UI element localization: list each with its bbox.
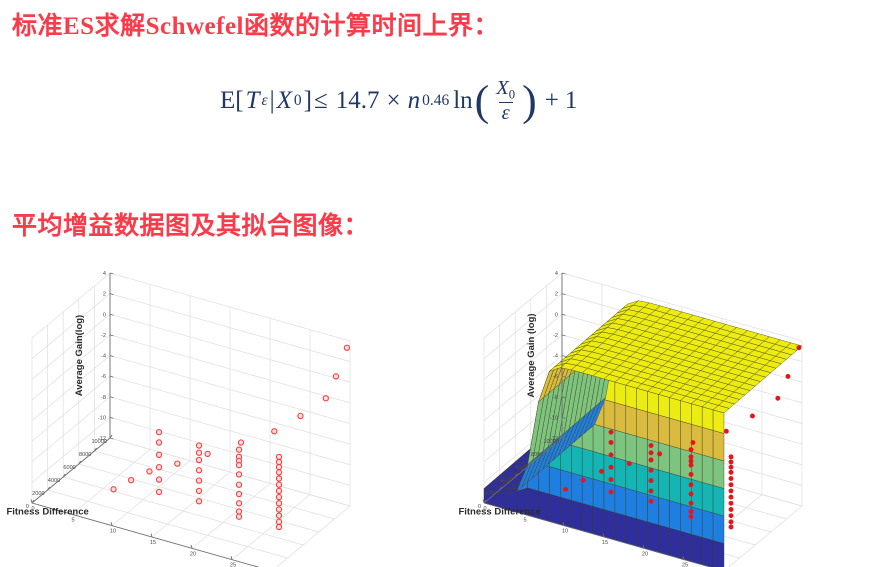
surface-overlay-point bbox=[729, 465, 733, 469]
scatter-point bbox=[236, 514, 241, 519]
surface-overlay-point bbox=[729, 501, 733, 505]
scatter-point bbox=[276, 482, 281, 487]
surface-face bbox=[593, 506, 604, 537]
surface-face bbox=[713, 458, 724, 489]
surface-overlay-point bbox=[786, 374, 790, 378]
surface-face bbox=[680, 401, 691, 425]
scatter-point bbox=[156, 440, 161, 445]
xtick-label: 8000 bbox=[79, 452, 91, 458]
surface-face bbox=[549, 494, 560, 525]
surface-face bbox=[637, 464, 648, 495]
ytick-label: 15 bbox=[150, 540, 156, 546]
surface-face bbox=[582, 448, 593, 479]
surface-overlay-point bbox=[599, 469, 603, 473]
formula-leq: ≤ bbox=[314, 87, 328, 115]
ytick-label: 25 bbox=[230, 563, 236, 567]
surface-face bbox=[582, 503, 593, 534]
surface-face bbox=[604, 400, 615, 431]
surface-face bbox=[560, 497, 571, 528]
surface-overlay-point bbox=[609, 430, 613, 434]
ytick-label: 10 bbox=[562, 529, 568, 535]
ztick-label: -8 bbox=[553, 395, 558, 401]
surface-face bbox=[659, 394, 670, 418]
surface-overlay-point bbox=[649, 443, 653, 447]
surface-overlay-point bbox=[729, 483, 733, 487]
formula-bracket-close: ] bbox=[304, 87, 312, 115]
ytick-label: 10 bbox=[110, 529, 116, 535]
scatter-point bbox=[175, 461, 180, 466]
formula-X: X bbox=[277, 87, 292, 115]
xtick-label: 8000 bbox=[531, 452, 543, 458]
scatter-point bbox=[196, 488, 201, 493]
scatter-axes bbox=[31, 273, 272, 567]
scatter-point bbox=[276, 488, 281, 493]
surface-face bbox=[691, 534, 702, 565]
scatter-zaxis-label: Average Gain(log) bbox=[74, 315, 85, 396]
surface-overlay-point bbox=[729, 460, 733, 464]
scatter-point bbox=[236, 472, 241, 477]
formula-T-subscript: ε bbox=[262, 92, 268, 110]
ytick-label: 5 bbox=[71, 517, 74, 523]
surface-face bbox=[637, 491, 648, 522]
formula-given-bar: | bbox=[270, 87, 275, 115]
scatter-point bbox=[205, 451, 210, 456]
surface-face bbox=[637, 436, 648, 467]
surface-overlay-point bbox=[658, 452, 662, 456]
ztick-label: 4 bbox=[555, 271, 558, 277]
scatter-point bbox=[236, 463, 241, 468]
formula-X-subscript: 0 bbox=[294, 92, 302, 110]
ztick-label: -4 bbox=[553, 354, 558, 360]
surface-face bbox=[659, 497, 670, 528]
scatter-point bbox=[147, 469, 152, 474]
ztick-label: -6 bbox=[553, 374, 558, 380]
formula-paren-open: ( bbox=[475, 88, 490, 115]
formula-expected-time: E[ T ε | X 0 ] ≤ 14.7 × n 0.46 ln ( X0 ε… bbox=[220, 78, 577, 124]
scatter-point bbox=[276, 454, 281, 459]
ztick-label: 4 bbox=[103, 271, 106, 277]
surface-face bbox=[669, 528, 680, 559]
scatter-point bbox=[276, 465, 281, 470]
surface-face bbox=[702, 427, 713, 458]
scatter-point bbox=[196, 468, 201, 473]
scatter-point bbox=[276, 513, 281, 518]
surface-overlay-point bbox=[609, 477, 613, 481]
scatter-point bbox=[276, 459, 281, 464]
surface-face bbox=[680, 421, 691, 452]
xtick-label: 2000 bbox=[484, 491, 496, 497]
surface-face bbox=[659, 525, 670, 556]
scatter-point bbox=[236, 447, 241, 452]
surface-xaxis-label: Fitness Difference bbox=[458, 506, 540, 517]
surface-overlay-point bbox=[609, 440, 613, 444]
surface-overlay-point bbox=[776, 396, 780, 400]
surface-overlay-point bbox=[609, 490, 613, 494]
ytick-label: 25 bbox=[682, 563, 688, 567]
surface-face bbox=[659, 470, 670, 501]
formula-n-exponent: 0.46 bbox=[422, 92, 449, 110]
surface-overlay-point bbox=[649, 499, 653, 503]
surface-overlay-point bbox=[649, 458, 653, 462]
surface-overlay-point bbox=[649, 468, 653, 472]
surface-face bbox=[615, 458, 626, 489]
xtick-label: 2000 bbox=[32, 491, 44, 497]
scatter-point bbox=[238, 440, 243, 445]
surface-face bbox=[713, 485, 724, 516]
xtick-label: 4000 bbox=[48, 478, 60, 484]
scatter-point bbox=[236, 501, 241, 506]
scatter-point bbox=[129, 478, 134, 483]
surface-overlay-point bbox=[689, 483, 693, 487]
surface-overlay-point bbox=[689, 501, 693, 505]
scatter-point bbox=[196, 478, 201, 483]
scatter-point bbox=[276, 519, 281, 524]
formula-times: × bbox=[386, 87, 400, 115]
ztick-label: -8 bbox=[101, 395, 106, 401]
surface-face bbox=[626, 385, 637, 409]
scatter-plot-svg[interactable]: 420-2-4-6-8-10-1210000800060004000200000… bbox=[0, 250, 445, 567]
surface-face bbox=[560, 470, 571, 501]
surface-face bbox=[637, 519, 648, 550]
scatter-point bbox=[196, 450, 201, 455]
surface-face bbox=[593, 479, 604, 510]
formula-n: n bbox=[408, 87, 421, 115]
surface-face bbox=[571, 500, 582, 531]
surface-face bbox=[648, 522, 659, 553]
ztick-label: -2 bbox=[553, 333, 558, 339]
surface-face bbox=[669, 397, 680, 421]
formula-plus: + bbox=[545, 87, 559, 115]
scatter-point bbox=[298, 413, 303, 418]
scatter-point bbox=[196, 443, 201, 448]
ztick-label: 0 bbox=[103, 312, 106, 318]
formula-T: T bbox=[246, 87, 260, 115]
surface-face bbox=[713, 410, 724, 434]
page-title-upper-bound: 标准ES求解Schwefel函数的计算时间上界： bbox=[12, 6, 499, 42]
surface-face bbox=[637, 409, 648, 440]
surface-face bbox=[615, 430, 626, 461]
surface-face bbox=[713, 540, 724, 567]
scatter-point bbox=[196, 457, 201, 462]
ztick-label: 2 bbox=[555, 292, 558, 298]
scatter-point bbox=[276, 494, 281, 499]
surface-overlay-point bbox=[724, 429, 728, 433]
surface-face bbox=[702, 537, 713, 567]
formula-expectation-open: E[ bbox=[220, 87, 244, 115]
surface-face bbox=[604, 482, 615, 513]
scatter-point bbox=[344, 345, 349, 350]
formula-fraction-numerator: X0 bbox=[493, 78, 518, 102]
scatter-plot-panel[interactable]: 420-2-4-6-8-10-1210000800060004000200000… bbox=[0, 250, 445, 567]
surface-face bbox=[637, 388, 648, 412]
xtick-label: 4000 bbox=[500, 478, 512, 484]
surface-face bbox=[669, 473, 680, 504]
surface-overlay-point bbox=[750, 414, 754, 418]
ztick-label: 2 bbox=[103, 292, 106, 298]
scatter-point bbox=[156, 477, 161, 482]
surface-face bbox=[648, 391, 659, 415]
surface-face bbox=[669, 418, 680, 449]
surface-face bbox=[702, 455, 713, 486]
surface-face bbox=[593, 424, 604, 455]
scatter-point bbox=[156, 430, 161, 435]
scatter-point bbox=[156, 465, 161, 470]
formula-fraction-denominator: ε bbox=[499, 102, 513, 125]
slide-canvas: 标准ES求解Schwefel函数的计算时间上界： E[ T ε | X 0 ] … bbox=[0, 0, 895, 567]
scatter-point bbox=[196, 499, 201, 504]
surface-overlay-point bbox=[729, 507, 733, 511]
ztick-label: -4 bbox=[101, 354, 106, 360]
surface-face bbox=[626, 488, 637, 519]
surface-overlay-point bbox=[689, 515, 693, 519]
surface-face bbox=[571, 445, 582, 476]
surface-face bbox=[680, 531, 691, 562]
surface-overlay-point bbox=[563, 487, 567, 491]
ytick-label: 20 bbox=[190, 551, 196, 557]
surface-overlay-point bbox=[729, 520, 733, 524]
surface-face bbox=[626, 516, 637, 547]
scatter-point bbox=[276, 507, 281, 512]
surface-face bbox=[648, 412, 659, 443]
surface-overlay-point bbox=[689, 492, 693, 496]
xtick-label: 10000 bbox=[91, 439, 107, 445]
surface-overlay-point bbox=[689, 463, 693, 467]
surface-overlay-point bbox=[581, 478, 585, 482]
surface-overlay-point bbox=[609, 465, 613, 469]
surface-face bbox=[615, 513, 626, 544]
ztick-label: -2 bbox=[101, 333, 106, 339]
surface-face bbox=[691, 404, 702, 428]
surface-face bbox=[626, 461, 637, 492]
surface-face bbox=[626, 433, 637, 464]
surface-face bbox=[648, 494, 659, 525]
formula-ln: ln bbox=[453, 87, 472, 115]
surface-overlay-point bbox=[729, 525, 733, 529]
formula-one: 1 bbox=[565, 87, 578, 115]
scatter-point bbox=[111, 487, 116, 492]
scatter-point bbox=[236, 491, 241, 496]
page-title-average-gain: 平均增益数据图及其拟合图像： bbox=[12, 206, 369, 242]
surface-overlay-point bbox=[689, 448, 693, 452]
surface-plot-svg[interactable]: 420-2-4-6-8-10-1210000800060004000200000… bbox=[448, 250, 895, 567]
scatter-xaxis-label: Fitness Difference bbox=[6, 506, 88, 517]
xtick-label: 6000 bbox=[515, 465, 527, 471]
surface-face bbox=[593, 451, 604, 482]
ztick-label: 0 bbox=[555, 312, 558, 318]
surface-face bbox=[615, 485, 626, 516]
xtick-label: 6000 bbox=[63, 465, 75, 471]
scatter-point bbox=[276, 470, 281, 475]
surface-overlay-point bbox=[609, 453, 613, 457]
ztick-label: -10 bbox=[550, 415, 558, 421]
ztick-label: -6 bbox=[101, 374, 106, 380]
surface-face bbox=[702, 482, 713, 513]
surface-overlay-point bbox=[729, 476, 733, 480]
surface-face bbox=[713, 513, 724, 544]
surface-overlay-point bbox=[689, 472, 693, 476]
surface-face bbox=[615, 382, 626, 406]
surface-zaxis-label: Average Gain (log) bbox=[526, 313, 537, 397]
surface-face bbox=[659, 442, 670, 473]
surface-face bbox=[669, 446, 680, 477]
surface-face bbox=[702, 510, 713, 541]
formula-coefficient: 14.7 bbox=[336, 87, 380, 115]
xtick-label: 10000 bbox=[543, 439, 559, 445]
surface-face bbox=[680, 504, 691, 535]
surface-overlay-point bbox=[689, 455, 693, 459]
surface-overlay-point bbox=[649, 451, 653, 455]
surface-overlay-point bbox=[689, 459, 693, 463]
scatter-point bbox=[236, 482, 241, 487]
surface-face bbox=[702, 407, 713, 431]
scatter-point bbox=[276, 476, 281, 481]
ytick-label: 15 bbox=[602, 540, 608, 546]
surface-overlay-point bbox=[649, 489, 653, 493]
surface-face bbox=[571, 473, 582, 504]
ytick-label: 5 bbox=[523, 517, 526, 523]
surface-overlay-point bbox=[649, 479, 653, 483]
surface-face bbox=[626, 406, 637, 437]
surface-overlay-point bbox=[729, 495, 733, 499]
surface-face bbox=[615, 403, 626, 434]
surface-overlay-point bbox=[627, 462, 631, 466]
surface-face bbox=[669, 501, 680, 532]
surface-face bbox=[713, 430, 724, 461]
surface-overlay-point bbox=[691, 440, 695, 444]
surface-face bbox=[604, 510, 615, 541]
scatter-point bbox=[236, 509, 241, 514]
surface-overlay-point bbox=[729, 455, 733, 459]
scatter-point bbox=[276, 524, 281, 529]
surface-face bbox=[659, 415, 670, 446]
scatter-point bbox=[156, 489, 161, 494]
surface-overlay-point bbox=[729, 489, 733, 493]
surface-overlay-point bbox=[689, 509, 693, 513]
ytick-label: 20 bbox=[642, 551, 648, 557]
scatter-point bbox=[272, 429, 277, 434]
scatter-point bbox=[156, 452, 161, 457]
surface-plot-panel[interactable]: 420-2-4-6-8-10-1210000800060004000200000… bbox=[448, 250, 895, 567]
surface-overlay-point bbox=[729, 514, 733, 518]
scatter-point bbox=[323, 396, 328, 401]
surface-overlay-point bbox=[729, 470, 733, 474]
surface-face bbox=[549, 467, 560, 498]
surface-overlay-point bbox=[797, 346, 801, 350]
formula-fraction: X0 ε bbox=[493, 78, 518, 124]
ztick-label: -10 bbox=[98, 415, 106, 421]
scatter-point bbox=[333, 374, 338, 379]
formula-paren-close: ) bbox=[522, 88, 537, 115]
scatter-point bbox=[276, 501, 281, 506]
